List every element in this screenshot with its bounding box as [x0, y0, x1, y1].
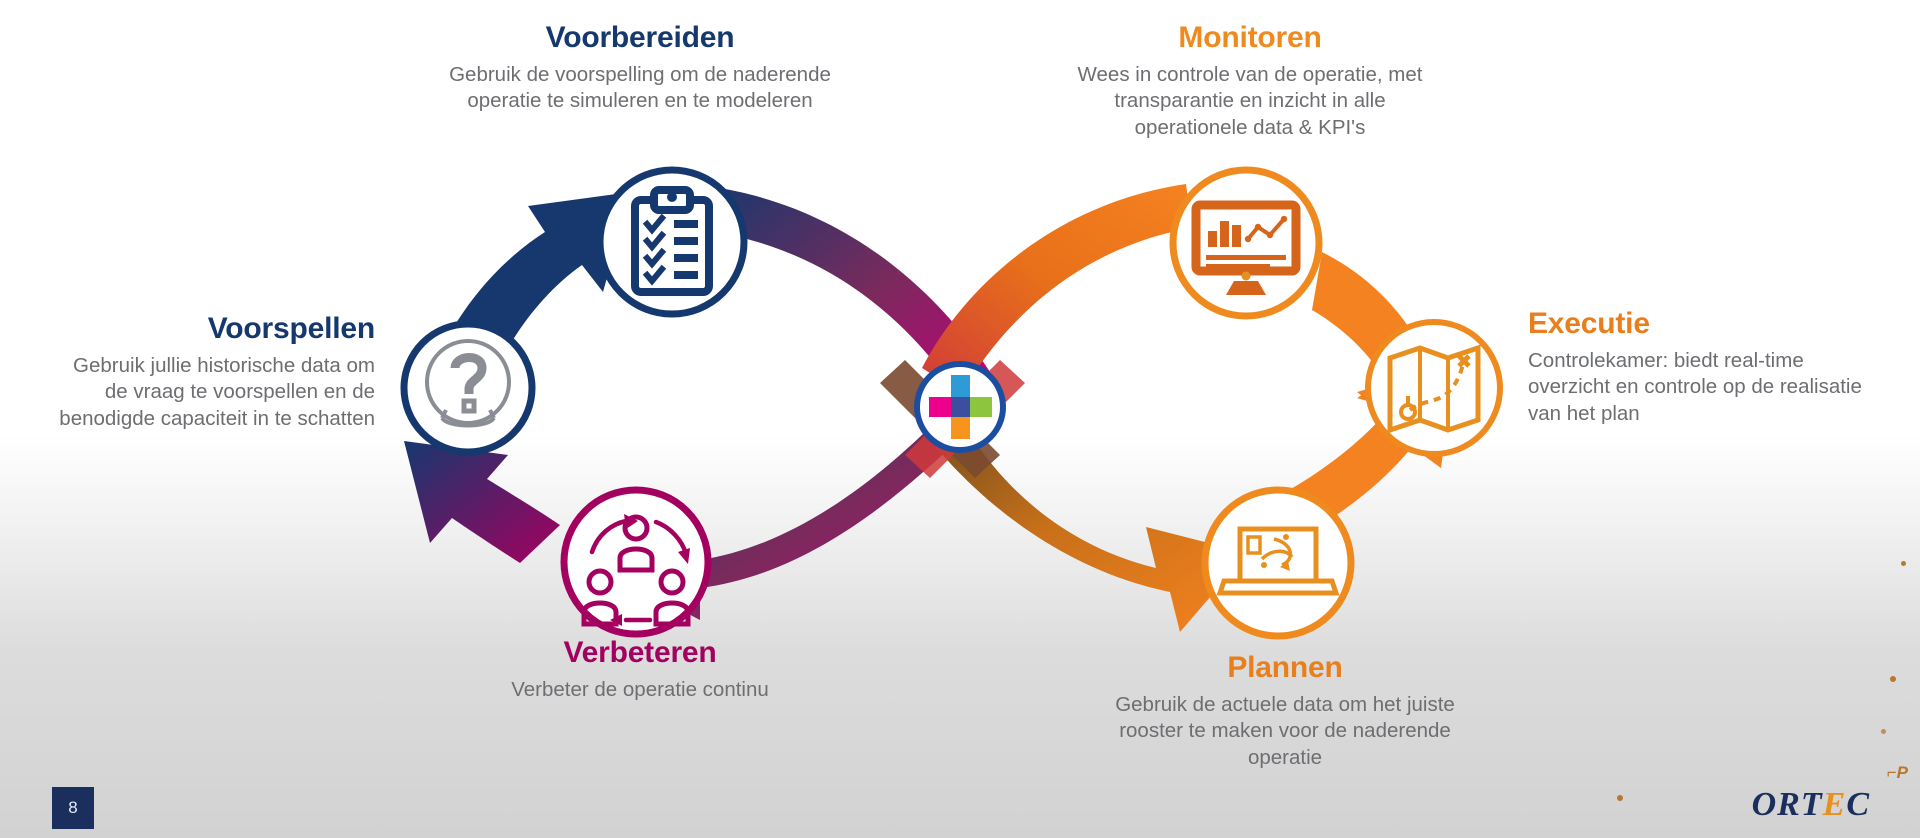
label-verbeteren: Verbeteren Verbeter de operatie continu [460, 637, 820, 703]
label-voorbereiden: Voorbereiden Gebruik de voorspelling om … [440, 22, 840, 115]
decoration-dot-3 [1881, 729, 1886, 734]
node-title-voorspellen: Voorspellen [50, 313, 375, 345]
node-description-voorbereiden: Gebruik de voorspelling om de naderende … [440, 62, 840, 115]
slide-canvas: Voorbereiden Gebruik de voorspelling om … [0, 0, 1920, 838]
logo-accent-e: E [1823, 786, 1847, 823]
decoration-dot-2 [1890, 676, 1896, 682]
node-title-verbeteren: Verbeteren [460, 637, 820, 669]
label-voorspellen: Voorspellen Gebruik jullie historische d… [50, 313, 375, 432]
arrow-verbeteren-to-voorspellen [404, 441, 560, 563]
route-map-icon [1390, 348, 1478, 430]
decoration-mark: ⌐P [1887, 763, 1908, 783]
logo-text-part2: C [1846, 786, 1870, 823]
node-description-voorspellen: Gebruik jullie historische data om de vr… [50, 353, 375, 433]
label-executie: Executie Controlekamer: biedt real-time … [1528, 308, 1878, 427]
node-description-executie: Controlekamer: biedt real-time overzicht… [1528, 348, 1878, 428]
ortec-logo: ORTEC [1752, 786, 1870, 824]
slide-number: 8 [52, 787, 94, 829]
node-title-monitoren: Monitoren [1060, 22, 1440, 54]
decoration-dot-4 [1617, 795, 1623, 801]
node-description-plannen: Gebruik de actuele data om het juiste ro… [1110, 692, 1460, 772]
node-title-plannen: Plannen [1110, 652, 1460, 684]
node-description-monitoren: Wees in controle van de operatie, met tr… [1060, 62, 1440, 142]
label-plannen: Plannen Gebruik de actuele data om het j… [1110, 652, 1460, 771]
decoration-dot-1 [1901, 561, 1906, 566]
node-title-executie: Executie [1528, 308, 1878, 340]
node-title-voorbereiden: Voorbereiden [440, 22, 840, 54]
clipboard-checklist-icon [635, 190, 709, 292]
logo-text-part1: ORT [1752, 786, 1823, 823]
node-description-verbeteren: Verbeter de operatie continu [460, 677, 820, 704]
four-color-plus-icon[interactable] [917, 364, 1003, 450]
label-monitoren: Monitoren Wees in controle van de operat… [1060, 22, 1440, 141]
